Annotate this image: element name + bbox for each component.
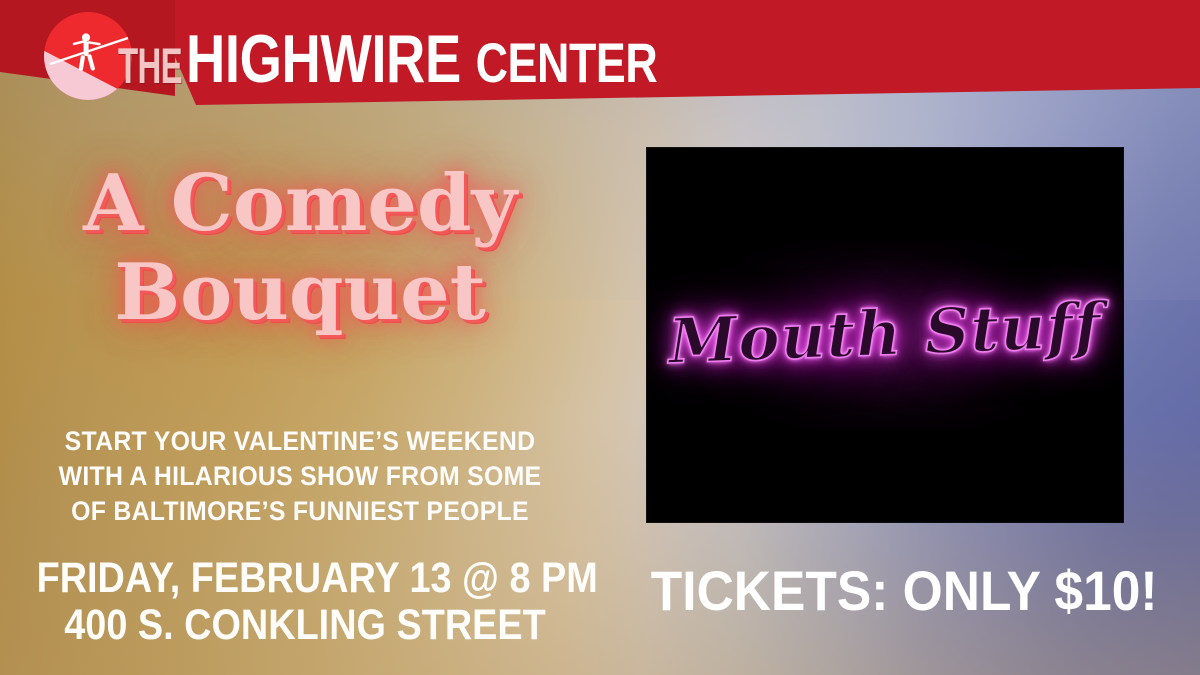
event-subtitle-line-1: START YOUR VALENTINE’S WEEKEND (24, 424, 576, 459)
event-subtitle-line-2: WITH A HILARIOUS SHOW FROM SOME (24, 459, 576, 494)
wordmark-highwire-center: HIGHWIRE CENTER (186, 32, 657, 88)
event-flyer: THE HIGHWIRE CENTER A Comedy Bouquet STA… (0, 0, 1200, 675)
neon-sign-text: Mouth Stuff (667, 294, 1102, 373)
ticket-price-callout: TICKETS: ONLY $10! (651, 563, 1129, 619)
event-title-line-2: Bouquet (0, 249, 600, 338)
event-address: 400 S. CONKLING STREET (37, 602, 574, 649)
event-details: FRIDAY, FEBRUARY 13 @ 8 PM 400 S. CONKLI… (0, 556, 610, 649)
event-subtitle: START YOUR VALENTINE’S WEEKEND WITH A HI… (24, 424, 576, 528)
event-title: A Comedy Bouquet (0, 160, 600, 338)
event-date-time: FRIDAY, FEBRUARY 13 @ 8 PM (37, 556, 574, 602)
event-title-line-1: A Comedy (0, 160, 600, 249)
venue-wordmark: THE HIGHWIRE CENTER (118, 14, 775, 88)
artwork-panel: Mouth Stuff (647, 148, 1123, 522)
event-subtitle-line-3: OF BALTIMORE’S FUNNIEST PEOPLE (24, 494, 576, 529)
wordmark-the: THE (118, 45, 182, 88)
